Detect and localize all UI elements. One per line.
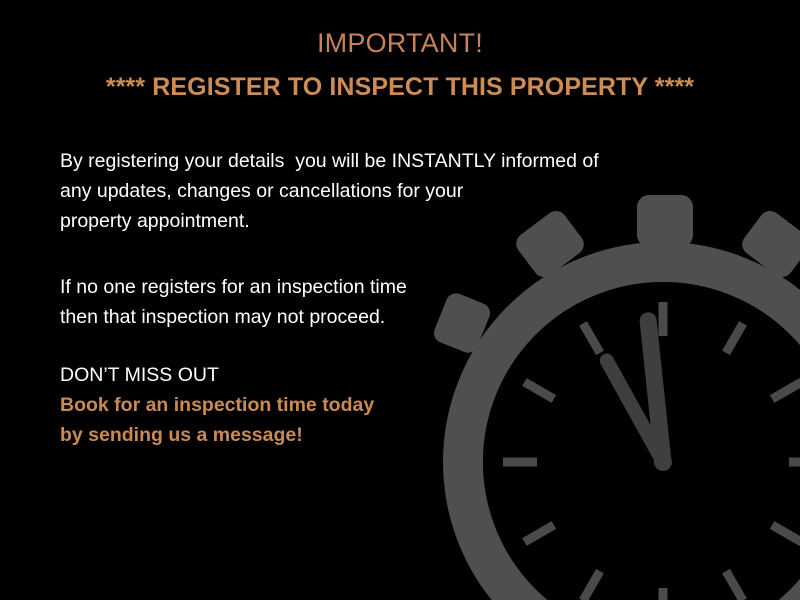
headline-register-to-inspect: **** REGISTER TO INSPECT THIS PROPERTY *…	[0, 70, 800, 104]
cta-book-inspection: Book for an inspection time today	[60, 390, 720, 420]
paragraph-registering-details: By registering your details you will be …	[60, 146, 720, 236]
body-line: If no one registers for an inspection ti…	[60, 272, 720, 302]
body-line: By registering your details you will be …	[60, 146, 720, 176]
inspection-registration-slide: IMPORTANT! **** REGISTER TO INSPECT THIS…	[0, 0, 800, 600]
cta-send-message: by sending us a message!	[60, 420, 720, 450]
body-line: then that inspection may not proceed.	[60, 302, 720, 332]
headline-block: IMPORTANT! **** REGISTER TO INSPECT THIS…	[0, 26, 800, 104]
headline-important: IMPORTANT!	[0, 26, 800, 60]
body-line: any updates, changes or cancellations fo…	[60, 176, 720, 206]
slide-text-content: IMPORTANT! **** REGISTER TO INSPECT THIS…	[0, 0, 800, 600]
paragraph-no-registration-warning: If no one registers for an inspection ti…	[60, 272, 720, 332]
body-line: property appointment.	[60, 206, 720, 236]
paragraph-call-to-action: DON’T MISS OUT Book for an inspection ti…	[60, 360, 720, 450]
cta-dont-miss-out: DON’T MISS OUT	[60, 360, 720, 390]
